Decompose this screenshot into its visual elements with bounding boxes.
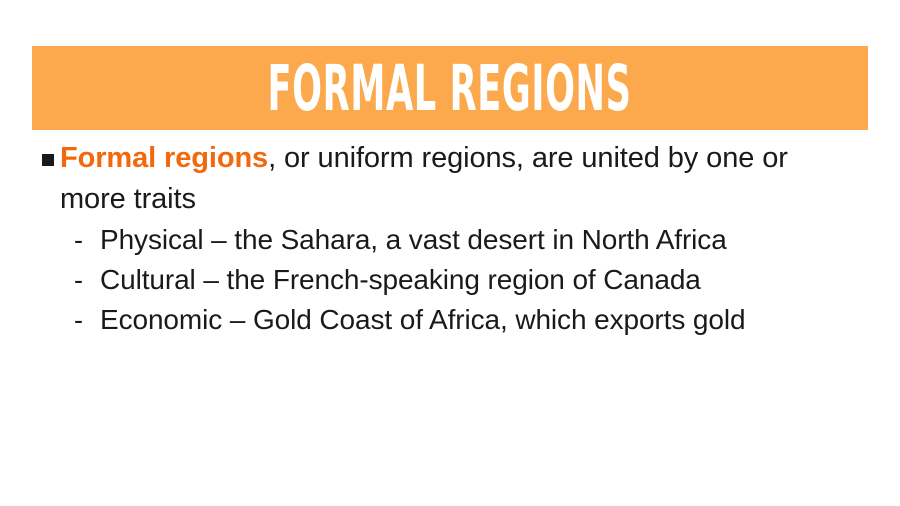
bullet-item-level1: Formal regions, or uniform regions, are …	[32, 138, 868, 220]
list-item: - Economic – Gold Coast of Africa, which…	[74, 300, 868, 340]
sub-bullet-text-cultural: Cultural – the French-speaking region of…	[100, 260, 800, 300]
sub-bullet-text-economic: Economic – Gold Coast of Africa, which e…	[100, 300, 800, 340]
bullet-level1-text: Formal regions, or uniform regions, are …	[60, 138, 850, 220]
dash-bullet-icon: -	[74, 260, 100, 300]
slide-title: FORMAL REGIONS	[268, 57, 632, 120]
dash-bullet-icon: -	[74, 300, 100, 340]
slide: FORMAL REGIONS Formal regions, or unifor…	[0, 0, 900, 506]
slide-body: Formal regions, or uniform regions, are …	[32, 138, 868, 340]
title-banner: FORMAL REGIONS	[32, 46, 868, 130]
sub-bullet-text-physical: Physical – the Sahara, a vast desert in …	[100, 220, 800, 260]
square-bullet-icon	[32, 138, 60, 166]
dash-bullet-icon: -	[74, 220, 100, 260]
list-item: - Physical – the Sahara, a vast desert i…	[74, 220, 868, 260]
list-item: - Cultural – the French-speaking region …	[74, 260, 868, 300]
sub-bullet-list: - Physical – the Sahara, a vast desert i…	[32, 220, 868, 340]
bullet-level1-lead: Formal regions	[60, 142, 268, 174]
